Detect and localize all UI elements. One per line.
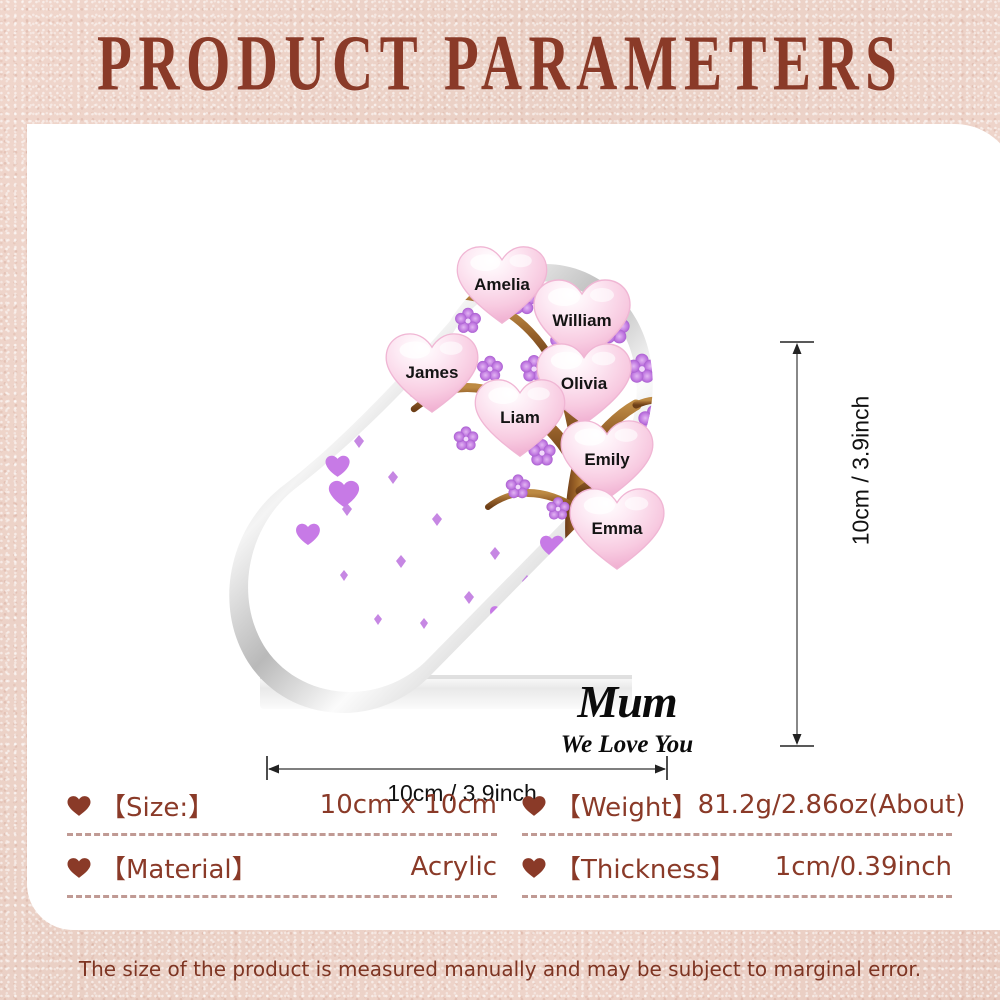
name-heart-label: Amelia [474,276,530,293]
name-heart-label: Emma [591,520,642,537]
heart-icon [522,795,546,817]
heart-glyph [67,857,91,879]
spec-key: 【Weight】 [555,787,698,824]
name-heart-label: Olivia [561,375,607,392]
footer-note: The size of the product is measured manu… [0,957,1000,981]
heart-icon [522,857,546,879]
heart-glyph [67,795,91,817]
spec-value: 10cm x 10cm [320,790,497,820]
dimension-vertical-label: 10cm / 3.9inch [848,376,875,566]
name-heart-emma: Emma [567,486,667,572]
name-heart-label: James [406,364,459,381]
heart-icon [67,857,91,879]
dimension-vertical-line [772,339,852,749]
spec-key: 【Size:】 [100,787,214,824]
spec-column-right: 【Weight】81.2g/2.86oz(About)【Thickness】1c… [522,774,952,898]
spec-separator [67,895,497,898]
content-card: AmeliaWilliamJamesOliviaLiamEmilyEmma Mu… [27,124,1000,930]
spec-row: 【Weight】81.2g/2.86oz(About) [522,774,952,836]
heart-glyph [522,795,546,817]
name-heart-liam: Liam [472,377,568,459]
name-heart-label: Liam [500,409,540,426]
heart-icon [67,795,91,817]
acrylic-heart-plaque: AmeliaWilliamJamesOliviaLiamEmilyEmma Mu… [222,209,682,754]
spec-value: Acrylic [411,852,497,882]
spec-value: 1cm/0.39inch [775,852,952,882]
dimension-vertical: 10cm / 3.9inch [772,339,852,749]
spec-row: 【Material】Acrylic [67,836,497,898]
plaque-message-line1: Mum [522,679,732,725]
spec-separator [522,895,952,898]
spec-row: 【Size:】10cm x 10cm [67,774,497,836]
spec-key: 【Material】 [100,849,258,886]
spec-column-left: 【Size:】10cm x 10cm【Material】Acrylic [67,774,497,898]
heart-glyph [522,857,546,879]
spec-row: 【Thickness】1cm/0.39inch [522,836,952,898]
name-heart-label: Emily [584,451,629,468]
title-bar: PRODUCT PARAMETERS [0,28,1000,100]
name-heart-label: William [552,312,611,329]
name-heart-james: James [383,331,481,415]
spec-key: 【Thickness】 [555,849,736,886]
spec-value: 81.2g/2.86oz(About) [698,790,966,820]
page-title: PRODUCT PARAMETERS [97,19,903,110]
product-image-stage: AmeliaWilliamJamesOliviaLiamEmilyEmma Mu… [27,124,967,724]
plaque-message: Mum We Love You [522,679,732,757]
